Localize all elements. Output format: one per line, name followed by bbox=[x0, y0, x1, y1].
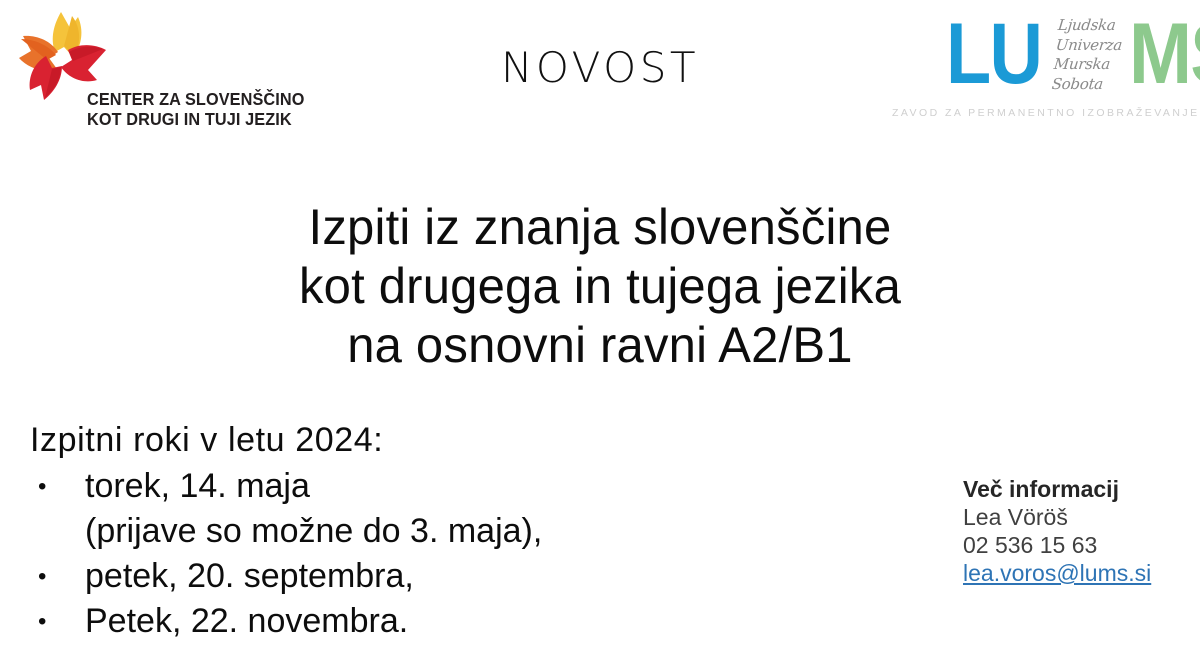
list-item-sub: (prijave so možne do 3. maja), bbox=[85, 509, 730, 554]
script-line-1: Ljudska bbox=[1057, 16, 1125, 36]
logo-left-wordmark-line2: KOT DRUGI IN TUJI JEZIK bbox=[87, 109, 310, 129]
page-title: Izpiti iz znanja slovenščine kot drugega… bbox=[60, 198, 1140, 375]
bullet-icon: • bbox=[30, 464, 85, 509]
list-item-body: Petek, 22. novembra. bbox=[85, 599, 730, 644]
list-item: • petek, 20. septembra, bbox=[30, 554, 730, 599]
lu-ms-tagline: ZAVOD ZA PERMANENTNO IZOBRAŽEVANJE bbox=[892, 107, 1192, 119]
exam-dates-intro: Izpitni roki v letu 2024: bbox=[30, 418, 730, 463]
list-item: • torek, 14. maja (prijave so možne do 3… bbox=[30, 464, 730, 554]
page-title-line1: Izpiti iz znanja slovenščine bbox=[71, 198, 1129, 257]
list-item-main: Petek, 22. novembra. bbox=[85, 599, 730, 644]
slide-canvas: CENTER ZA SLOVENŠČINO KOT DRUGI IN TUJI … bbox=[0, 0, 1200, 672]
list-item: • Petek, 22. novembra. bbox=[30, 599, 730, 644]
logo-left-wordmark-line1: CENTER ZA SLOVENŠČINO bbox=[87, 89, 310, 109]
list-item-main: torek, 14. maja bbox=[85, 464, 730, 509]
contact-email-row: lea.voros@lums.si bbox=[963, 559, 1188, 587]
contact-person-name: Lea Vöröš bbox=[963, 503, 1188, 531]
contact-heading: Več informacij bbox=[963, 475, 1188, 503]
contact-email-link[interactable]: lea.voros@lums.si bbox=[963, 559, 1151, 587]
bullet-icon: • bbox=[30, 554, 85, 599]
exam-dates-block: Izpitni roki v letu 2024: • torek, 14. m… bbox=[30, 418, 730, 644]
list-item-main: petek, 20. septembra, bbox=[85, 554, 730, 599]
page-title-kicker: NOVOST bbox=[0, 44, 1200, 92]
bullet-icon: • bbox=[30, 599, 85, 644]
page-title-line3: na osnovni ravni A2/B1 bbox=[71, 316, 1129, 375]
page-title-line2: kot drugega in tujega jezika bbox=[71, 257, 1129, 316]
logo-left-wordmark: CENTER ZA SLOVENŠČINO KOT DRUGI IN TUJI … bbox=[87, 89, 310, 129]
list-item-body: torek, 14. maja (prijave so možne do 3. … bbox=[85, 464, 730, 554]
contact-phone: 02 536 15 63 bbox=[963, 531, 1188, 559]
contact-block: Več informacij Lea Vöröš 02 536 15 63 le… bbox=[963, 475, 1188, 587]
list-item-body: petek, 20. septembra, bbox=[85, 554, 730, 599]
